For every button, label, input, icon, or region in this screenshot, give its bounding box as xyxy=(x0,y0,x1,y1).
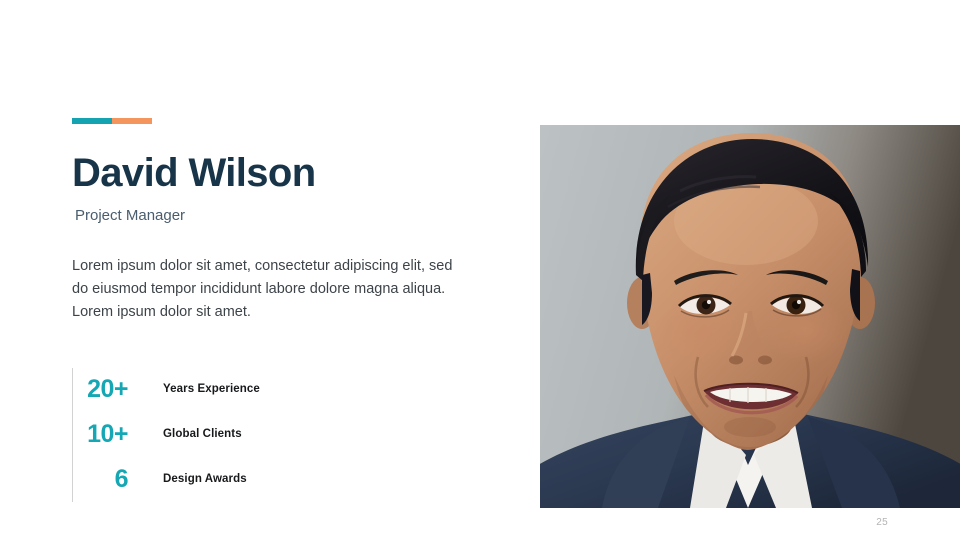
bio-paragraph: Lorem ipsum dolor sit amet, consectetur … xyxy=(72,255,472,324)
stat-item: 10+ Global Clients xyxy=(72,411,372,456)
stat-value: 6 xyxy=(72,465,128,493)
person-role: Project Manager xyxy=(75,206,492,226)
slide-canvas: David Wilson Project Manager Lorem ipsum… xyxy=(0,0,960,540)
stat-label: Design Awards xyxy=(163,472,247,486)
portrait-photo xyxy=(540,125,960,508)
accent-bar-orange-segment xyxy=(112,118,152,124)
stat-value: 10+ xyxy=(72,420,128,448)
page-number: 25 xyxy=(876,517,888,529)
page-title: David Wilson xyxy=(72,150,492,196)
stat-item: 20+ Years Experience xyxy=(72,366,372,411)
stat-label: Global Clients xyxy=(163,427,242,441)
accent-bar xyxy=(72,118,152,124)
stat-value: 20+ xyxy=(72,375,128,403)
accent-bar-teal-segment xyxy=(72,118,112,124)
stat-item: 6 Design Awards xyxy=(72,456,372,501)
stats-list: 20+ Years Experience 10+ Global Clients … xyxy=(72,366,372,501)
stat-label: Years Experience xyxy=(163,382,260,396)
profile-content: David Wilson Project Manager Lorem ipsum… xyxy=(72,118,492,324)
